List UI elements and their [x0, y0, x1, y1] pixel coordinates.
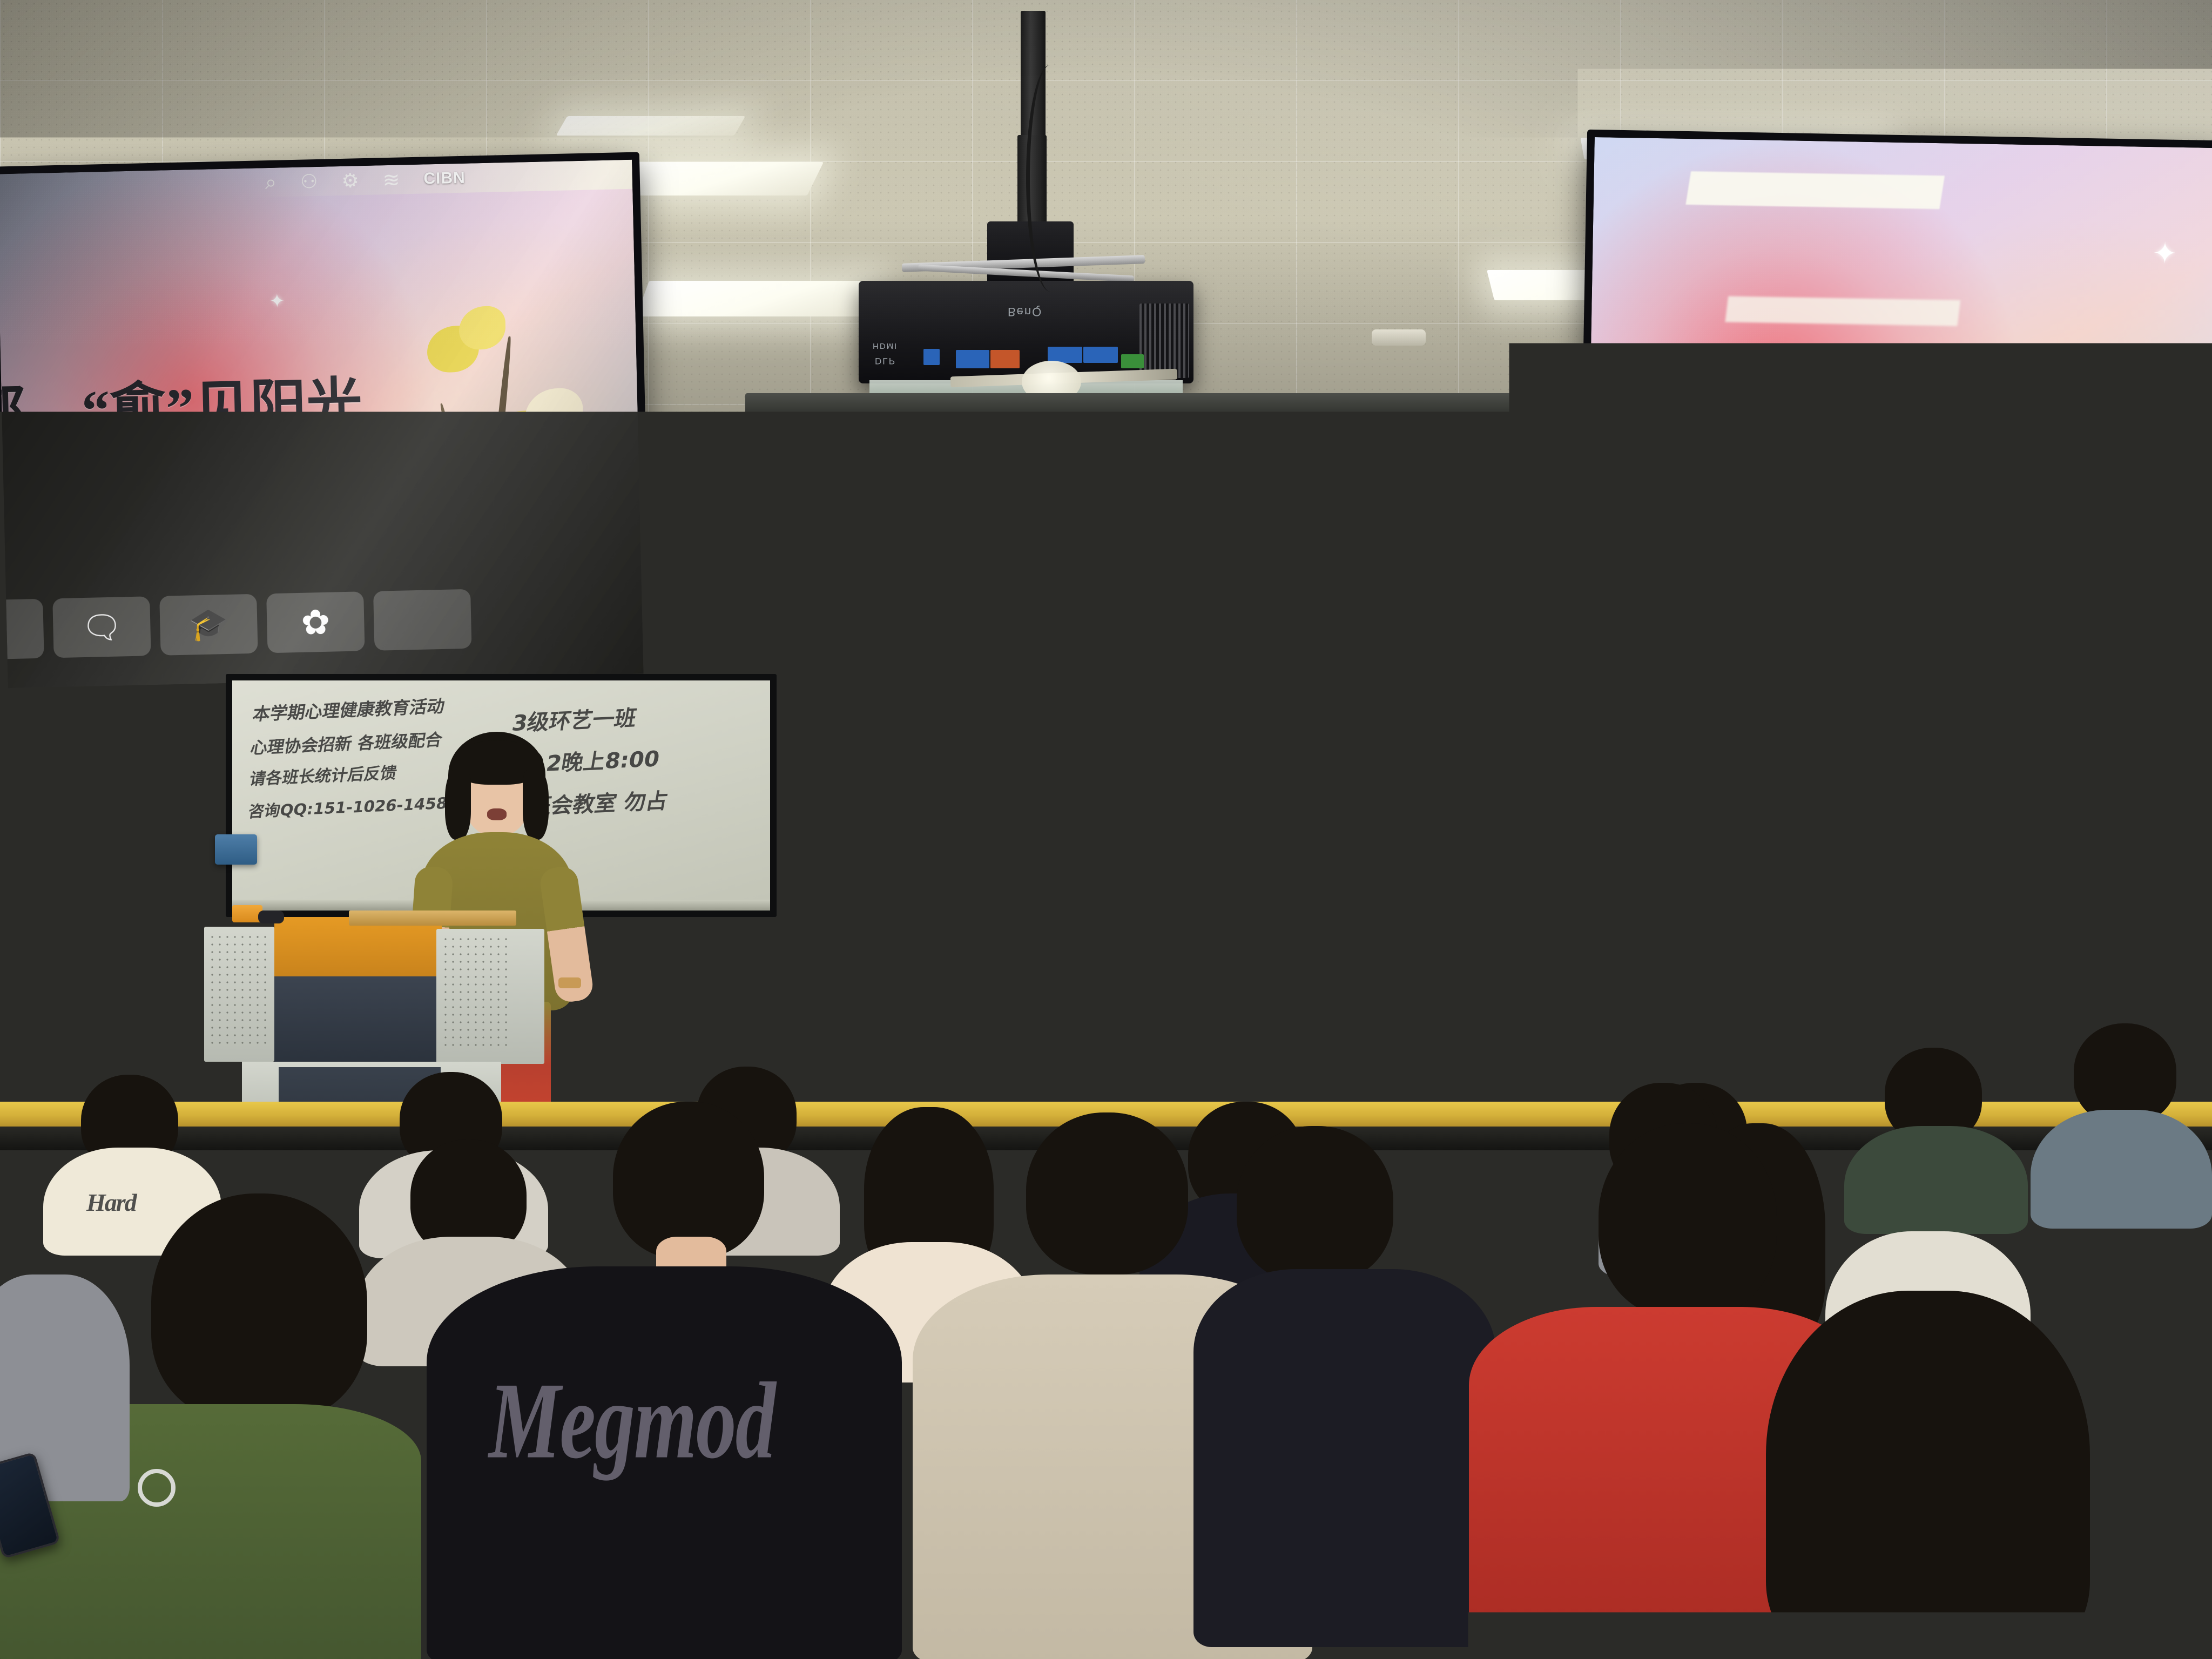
student-body-foreground: [0, 1577, 281, 1659]
flower-petal-icon: [2035, 624, 2101, 679]
student-head: [613, 1102, 764, 1258]
collapse-toolbar-button[interactable]: ‹: [1773, 655, 1779, 673]
student-head: [2074, 1023, 2176, 1123]
sparkle-icon: ✦: [473, 449, 485, 465]
pocket-slot: 05: [111, 782, 136, 815]
projector-usb-port: [923, 349, 940, 365]
wifi-icon[interactable]: ≋: [382, 167, 400, 192]
left-tv[interactable]: ✦ ✦ ✦ 郁，“愈”见阳光 认识抑郁症心理健康讲座 人：周静 年6月4日 ⌕ …: [0, 152, 651, 696]
pocket-row: 25 26 27 28 29 30: [9, 942, 162, 975]
projector-hdmi-label: HDMI: [873, 341, 898, 350]
comment-button[interactable]: ▢: [1720, 653, 1736, 672]
pocket-slot: 15: [60, 862, 85, 895]
pocket-slot: 24: [137, 902, 162, 935]
more-apps-icon[interactable]: [373, 589, 471, 651]
pocket-slot: 04: [85, 782, 111, 815]
projector-brand-label: BenQ: [1008, 305, 1042, 319]
flower-petal-icon: [382, 510, 444, 557]
tv-brand-label: CIBN: [423, 169, 466, 188]
right-tv-presenter-pill: 主讲人：周静: [1765, 529, 2014, 590]
flower-petal-icon: [524, 388, 584, 443]
pocket-row: 13 14 15 16 17 18: [9, 862, 162, 895]
phone-pocket-chart-header: 手 · 机 · 袋: [9, 756, 162, 775]
right-tv-slide-date: 2025年6月4日: [1785, 626, 1954, 670]
shirt-logo-skechers: [138, 1469, 176, 1507]
laser-pointer-button[interactable]: ◎: [861, 973, 873, 989]
screen-glare: [1725, 296, 1960, 326]
flower-gallery-icon[interactable]: ✿: [266, 591, 365, 653]
pocket-slot: 17: [111, 862, 136, 895]
tv-status-bar: ⌕ ⚇ ⚙ ≋ CIBN: [243, 160, 632, 198]
pocket-slot: 25: [9, 942, 34, 975]
right-tv-slide-subtitle: ——认识抑郁症心理健: [1713, 409, 2146, 480]
projector-serial-port: [1121, 354, 1144, 368]
screen-glare: [1685, 171, 1945, 209]
microphone-mount: [1762, 695, 1781, 700]
flower-petal-icon: [1324, 939, 1372, 977]
pocket-divider: [9, 815, 162, 822]
projector-vent: [1139, 304, 1189, 378]
projector-body: BenQ DLP HDMI: [859, 281, 1193, 383]
left-tv-slide-subtitle: 认识抑郁症心理健康讲座: [0, 451, 413, 518]
shirt-graphic: Megmod: [489, 1358, 775, 1483]
pocket-slot: 19: [9, 902, 34, 935]
pocket-slot: 27: [60, 942, 85, 975]
flower-stem: [1444, 815, 1478, 987]
projected-slide: ✦ ✦ ✦ 正视抑郁，“愈”见阳光 ——认识抑郁症心理健康讲座 主讲人：周静 2…: [786, 512, 1674, 998]
gear-icon[interactable]: ⚙: [341, 169, 359, 192]
video-call-icon[interactable]: 🗨: [52, 596, 151, 658]
video-button[interactable]: ▭: [1694, 653, 1710, 672]
pen-tool-button[interactable]: ✎: [839, 973, 851, 989]
prev-slide-button[interactable]: ◀: [798, 973, 809, 989]
projector-vga-port: [956, 350, 989, 368]
right-whiteboard-surface: [1667, 690, 2206, 1063]
pocket-row: 01 02 03 04 05 06: [9, 782, 162, 815]
tv-app-gallery[interactable]: ✿ 图库: [266, 591, 366, 679]
tv-app-education-center[interactable]: 🎓 教育中心: [159, 594, 259, 682]
pocket-divider: [9, 775, 162, 782]
sparkle-icon: ✦: [2111, 497, 2124, 512]
shirt-graphic: Hard: [86, 1188, 136, 1217]
pocket-slot: 01: [9, 782, 34, 815]
student-hair-tie: [2036, 1599, 2085, 1630]
next-slide-button[interactable]: ▶: [819, 973, 829, 989]
lectern-worktop: [274, 917, 442, 976]
pocket-slot: 09: [60, 822, 85, 855]
pocket-slot: 02: [34, 782, 59, 815]
right-tv-presenter-label: 主讲人：周静: [1799, 536, 1981, 583]
whiteboard-marker: [1706, 1047, 1739, 1053]
pocket-row: 07 08 09 10 11 12: [9, 822, 162, 855]
pocket-slot: 18: [137, 862, 162, 895]
pocket-slot: 29: [111, 942, 136, 975]
pocket-slot: 11: [111, 822, 136, 855]
tv-app-music[interactable]: ♫ 音乐: [0, 599, 45, 686]
pocket-slot: 20: [34, 902, 59, 935]
lectern-remote: [258, 911, 284, 923]
student-body: [1844, 1126, 2028, 1234]
flower-petal-icon: [533, 485, 590, 538]
projection-screen-weight-bar: [767, 998, 1690, 1021]
ceiling-light-panel: [556, 116, 746, 136]
projected-slide-date: 2025年6月4日: [990, 928, 1152, 967]
student-head-foreground: [1771, 1534, 2041, 1659]
flower-petal-icon: [1528, 847, 1572, 882]
right-tv-slide-title: 正视抑郁，“愈”见阳: [1622, 329, 2149, 423]
more-options-button[interactable]: ⋯: [929, 973, 943, 989]
right-whiteboard: [1661, 683, 2212, 1069]
tv-app-label: 音乐: [0, 664, 11, 685]
flower-petal-icon: [2058, 515, 2119, 566]
projector-tech-label: DLP: [875, 355, 896, 366]
flower-petal-icon: [1568, 890, 1620, 933]
power-outlet: [1744, 1074, 1769, 1105]
lectern-left-speaker-grille: [208, 933, 268, 1047]
left-tv-slide-title: 郁，“愈”见阳光: [0, 358, 363, 448]
pocket-divider: [9, 935, 162, 942]
pocket-slot: 12: [137, 822, 162, 855]
student-head-bun: [151, 1193, 367, 1420]
pocket-slot: 13: [9, 862, 34, 895]
projector-hdmi-port: [1083, 347, 1118, 363]
left-tv-screen[interactable]: ✦ ✦ ✦ 郁，“愈”见阳光 认识抑郁症心理健康讲座 人：周静 年6月4日 ⌕ …: [0, 160, 644, 688]
lectern-front-panel: [274, 976, 436, 1068]
projected-presenter-label: 主讲人：周静: [990, 852, 1165, 895]
lecture-hall-photo: BenQ DLP HDMI: [0, 0, 2212, 1659]
pocket-slot: 26: [34, 942, 59, 975]
pocket-row: 19 20 21 22 23 24: [9, 902, 162, 935]
music-note-icon[interactable]: ♫: [0, 599, 44, 660]
lectern: [204, 879, 582, 1138]
tv-app-dock[interactable]: ♫ 音乐 🗨 畅连 🎓 教育中心: [6, 582, 644, 689]
whiteboard-note-line: 本学期心理健康教育活动: [251, 692, 447, 725]
student-head: [1599, 1123, 1777, 1318]
projection-screen: ✦ ✦ ✦ 正视抑郁，“愈”见阳光 ——认识抑郁症心理健康讲座 主讲人：周静 2…: [782, 507, 1678, 998]
right-tv-screen[interactable]: ✦ ✦ 正视抑郁，“愈”见阳 ——认识抑郁症心理健 主讲人：周静 2025年6月…: [1585, 137, 2212, 692]
projection-screen-upper-dark: [767, 417, 1534, 520]
phone-pocket-chart: 手 · 机 · 袋 01 02 03 04 05 06 07 08 09 10 …: [4, 752, 166, 961]
pocket-slot: 07: [9, 822, 34, 855]
comment-button[interactable]: ▢: [906, 973, 919, 989]
whiteboard-note-line: 心理协会招新 各班级配合: [249, 726, 444, 758]
pocket-slot: 06: [137, 782, 162, 815]
projected-slide-title: 正视抑郁，“愈”见阳光: [824, 647, 1445, 737]
pocket-slot: 23: [111, 902, 136, 935]
account-icon[interactable]: ⚇: [300, 170, 318, 193]
search-icon[interactable]: ⌕: [265, 171, 276, 194]
pocket-slot: 08: [34, 822, 59, 855]
sparkle-icon: ✦: [1366, 579, 1388, 605]
music-note-glyph: ♫: [0, 609, 8, 650]
pocket-slot: 14: [34, 862, 59, 895]
presenter-hair-side: [445, 770, 471, 840]
flower-gallery-glyph: ✿: [301, 602, 331, 643]
pocket-slot: 21: [60, 902, 85, 935]
flower-stem: [478, 336, 513, 616]
projector-audio-port: [990, 350, 1020, 368]
presenter-hair-side: [523, 770, 549, 840]
pocket-slot: 22: [85, 902, 111, 935]
projector-power-cable: [1026, 65, 1075, 292]
tv-app-changlian[interactable]: 🗨 畅连: [52, 596, 152, 684]
tv-app-label: 畅连: [88, 662, 118, 683]
video-button[interactable]: ▭: [882, 973, 896, 989]
smoke-detector: [1372, 329, 1426, 346]
student-body: [2031, 1110, 2212, 1229]
projected-ppt-toolbar[interactable]: ◀ ▶ ✎ ◎ ▭ ▢ ⋯ ‹: [791, 969, 965, 993]
student-head: [1026, 1112, 1188, 1274]
whiteboard-top-rail: [1667, 718, 2206, 729]
sparkle-icon: ✦: [512, 546, 524, 559]
presenter-mouth: [487, 808, 507, 820]
wall-mounted-device: [215, 834, 257, 865]
sparkle-icon: ✦: [269, 292, 285, 311]
right-tv-slide: ✦ ✦ 正视抑郁，“愈”见阳 ——认识抑郁症心理健 主讲人：周静 2025年6月…: [1585, 137, 2212, 692]
projected-presenter-pill: 主讲人：周静: [965, 847, 1191, 900]
ceiling-light-panel: [636, 281, 876, 316]
sparkle-icon: ✦: [1578, 690, 1588, 702]
flower-petal-icon: [2117, 523, 2199, 595]
sparkle-icon: ✦: [2153, 239, 2177, 268]
projection-screen-case: [745, 393, 1550, 419]
collapse-toolbar-button[interactable]: ‹: [953, 973, 957, 989]
projected-slide-subtitle: ——认识抑郁症心理健康讲座: [943, 728, 1519, 792]
flower-petal-icon: [458, 306, 506, 350]
pocket-slot: 16: [85, 862, 111, 895]
pocket-slot: 28: [85, 942, 111, 975]
pocket-divider: [9, 895, 162, 902]
lectern-desk-surface: [349, 911, 516, 926]
tv-app-more[interactable]: [373, 589, 471, 651]
student-head: [1237, 1126, 1393, 1283]
flower-petal-icon: [1398, 901, 1447, 942]
sparkle-icon: ✦: [1484, 793, 1496, 807]
whiteboard-note-line: 请各班长统计后反馈: [248, 759, 399, 790]
pocket-slot: 10: [85, 822, 111, 855]
graduation-cap-icon[interactable]: 🎓: [159, 594, 258, 656]
pocket-slot: 03: [60, 782, 85, 815]
graduation-cap-glyph: 🎓: [189, 606, 229, 644]
lectern-right-speaker-grille: [442, 935, 512, 1046]
pocket-slot: 30: [137, 942, 162, 975]
left-tv-slide: ✦ ✦ ✦ 郁，“愈”见阳光 认识抑郁症心理健康讲座 人：周静 年6月4日 ⌕ …: [0, 160, 644, 688]
more-options-button[interactable]: ⋯: [1746, 654, 1763, 673]
pocket-divider: [9, 855, 162, 862]
video-call-glyph: 🗨: [81, 608, 123, 647]
